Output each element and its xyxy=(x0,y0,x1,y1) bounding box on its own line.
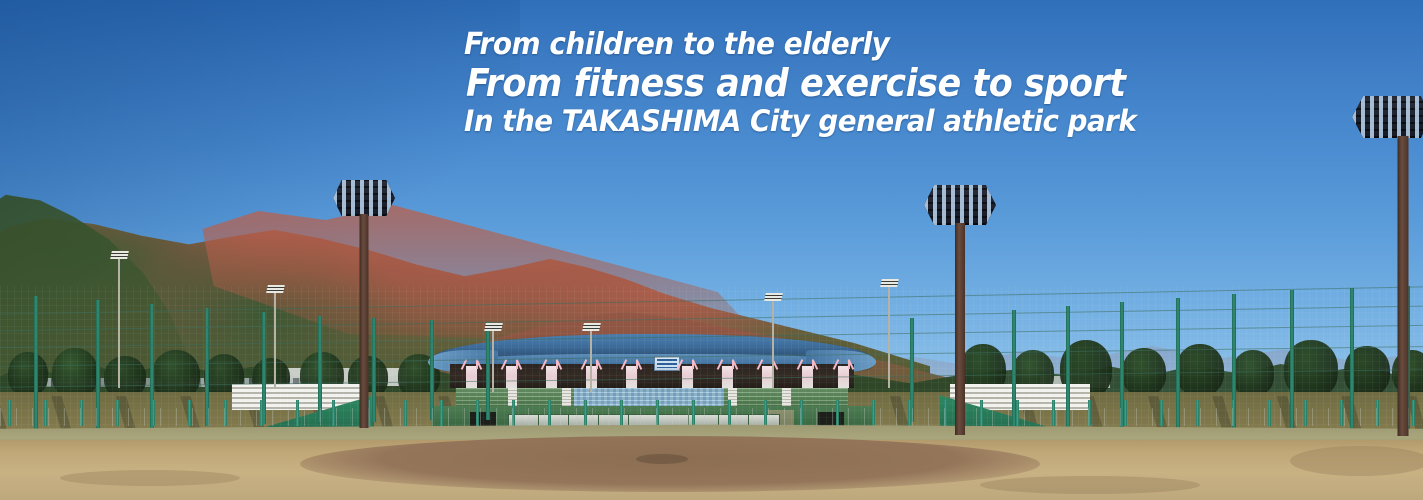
floodlight-pole xyxy=(1398,136,1409,436)
floodlight-pole xyxy=(360,214,369,428)
floodlight-tower-left xyxy=(333,180,395,428)
low-chain-fence xyxy=(0,408,1423,426)
floodlight-head xyxy=(924,185,996,225)
background-light-pole xyxy=(118,258,120,388)
headline-line-1: From children to the elderly xyxy=(464,27,889,62)
floodlight-head xyxy=(333,180,395,216)
infield-skin-oval xyxy=(300,436,1040,492)
dirt-texture-patch xyxy=(60,470,240,486)
light-pole-head xyxy=(484,323,503,331)
pitchers-mound xyxy=(636,454,688,464)
light-pole-head xyxy=(110,251,129,259)
light-pole-head xyxy=(266,285,285,293)
hero-banner: From children to the elderly From fitnes… xyxy=(0,0,1423,500)
background-light-pole xyxy=(888,286,890,388)
light-pole-head xyxy=(880,279,899,287)
background-light-pole xyxy=(492,330,494,392)
fence-post xyxy=(318,316,322,422)
fence-post xyxy=(430,320,434,420)
fence-post xyxy=(486,322,490,420)
floodlight-tower-center xyxy=(924,185,996,435)
dirt-texture-patch xyxy=(980,476,1200,494)
headline-line-2: From fitness and exercise to sport xyxy=(466,61,1126,105)
floodlight-pole xyxy=(955,223,965,435)
floodlight-lamps xyxy=(924,185,996,225)
background-light-pole xyxy=(274,292,276,388)
light-pole-head xyxy=(764,293,783,301)
light-pole-head xyxy=(582,323,601,331)
background-light-pole xyxy=(772,300,774,388)
background-light-pole xyxy=(590,330,592,392)
headline-line-3: In the TAKASHIMA City general athletic p… xyxy=(464,104,1136,138)
floodlight-lamps xyxy=(333,180,395,216)
dirt-texture-patch xyxy=(1290,446,1423,476)
headline-block: From children to the elderly From fitnes… xyxy=(0,0,1423,150)
